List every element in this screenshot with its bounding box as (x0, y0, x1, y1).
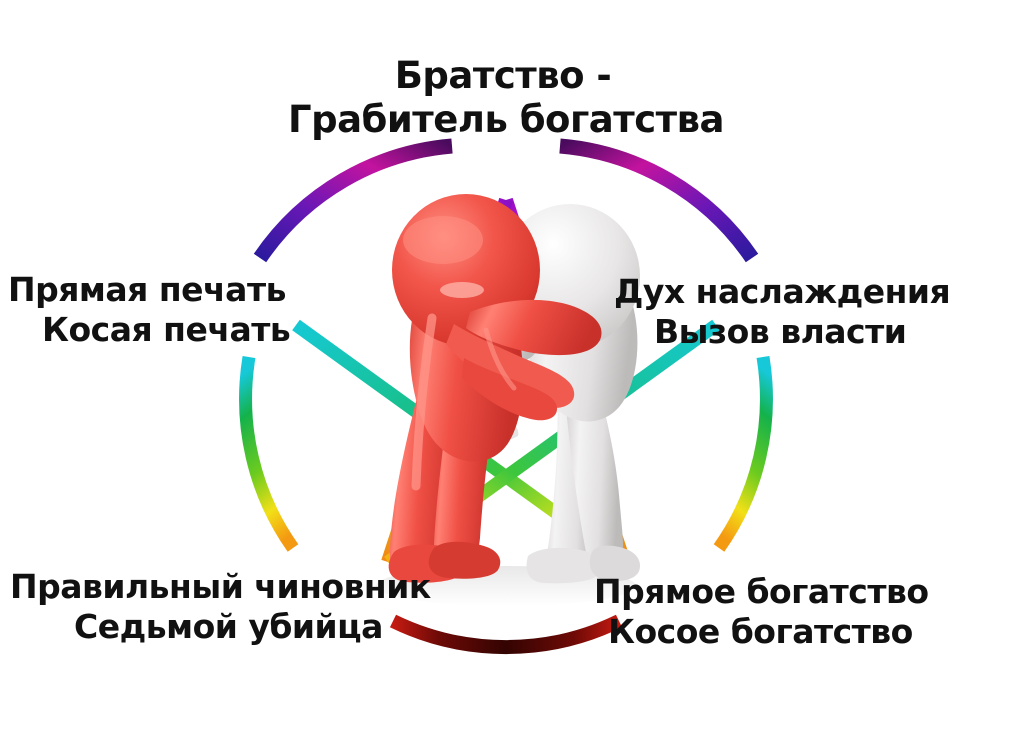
label-right-line2: Вызов власти (654, 312, 1012, 352)
arc-left (246, 357, 293, 548)
label-bottom-left-line2: Седьмой убийца (74, 607, 480, 647)
label-top: Братство - Грабитель богатства (0, 54, 1012, 143)
label-bottom-right-line1: Прямое богатство (594, 572, 1012, 612)
arc-right (719, 357, 766, 548)
label-bottom-right-line2: Косое богатство (608, 612, 1012, 652)
label-bottom-right: Прямое богатство Косое богатство (594, 572, 1012, 651)
label-left-line1: Прямая печать (8, 270, 338, 310)
label-bottom-left-line1: Правильный чиновник (10, 567, 480, 607)
label-bottom-left: Правильный чиновник Седьмой убийца (10, 567, 480, 646)
diagram-canvas: Братство - Грабитель богатства Прямая пе… (0, 0, 1012, 744)
label-top-line2: Грабитель богатства (0, 98, 1012, 142)
label-left: Прямая печать Косая печать (8, 270, 338, 349)
label-right: Дух наслаждения Вызов власти (614, 272, 1012, 351)
label-left-line2: Косая печать (42, 310, 338, 350)
figures-group (376, 194, 640, 606)
label-right-line1: Дух наслаждения (614, 272, 1012, 312)
label-top-line1: Братство - (0, 54, 1012, 98)
